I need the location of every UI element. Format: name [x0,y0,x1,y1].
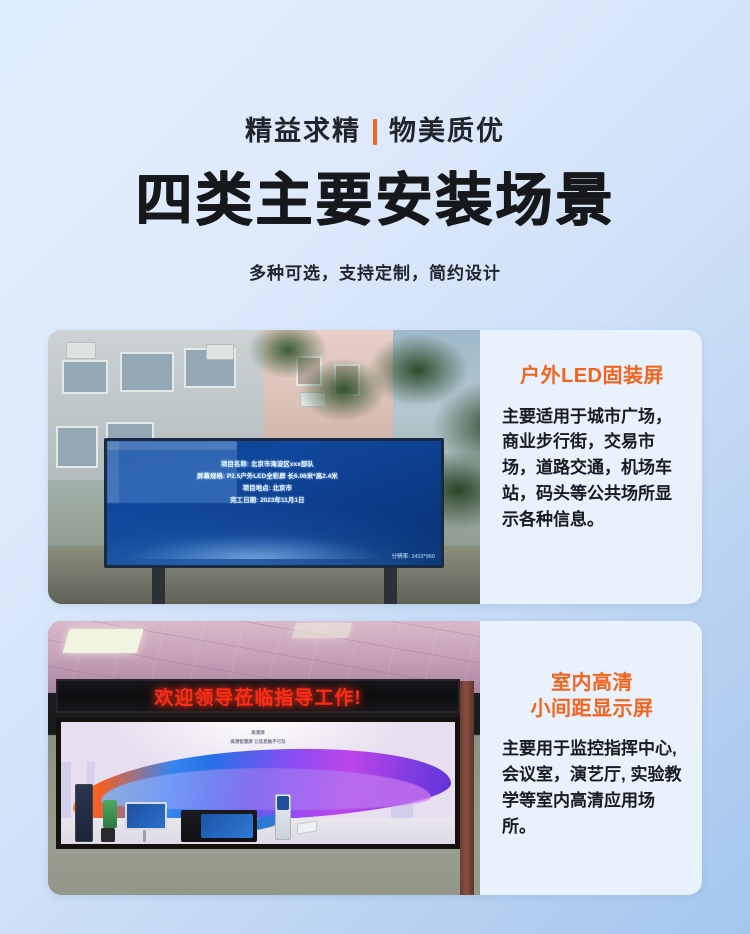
scene-card-indoor-fine-pitch[interactable]: 欢迎领导莅临指导工作! 高清屏 高清智慧屏 让信息触手可及 [48,621,702,895]
scene-card-list: 项目名称: 北京市海淀区xxx部队 屏幕规格: P2.5户外LED全彩屏 长6.… [0,330,750,895]
page-subtitle: 多种可选，支持定制，简约设计 [0,259,750,284]
device-panel-stand [143,830,146,842]
tagline-right: 物美质优 [389,118,505,145]
photo-billboard-pole [152,562,165,604]
page-header: 精益求精 物美质优 四类主要安装场景 多种可选，支持定制，简约设计 [0,0,750,284]
photo-window [120,352,174,392]
led-line-completion: 完工日期: 2023年11月1日 [192,495,342,507]
photo-window [56,426,98,468]
photo-air-conditioner [66,342,96,359]
device-interactive-panel [125,802,167,830]
led-screen-watermark: 分辨率: 2432*960 [392,552,435,560]
device-conference-display [201,814,253,838]
device-vertical-kiosk [75,784,93,842]
photo-window [62,360,108,394]
card-text-pane: 室内高清 小间距显示屏 主要用于监控指挥中心,会议室，演艺厅, 实验教学等室内高… [480,621,702,895]
led-line-screen-spec: 屏幕规格: P2.5户外LED全彩屏 长6.08米*高2.4米 [192,471,342,483]
screen-caption-1: 高清屏 [230,728,285,737]
screen-caption-2: 高清智慧屏 让信息触手可及 [230,737,285,746]
card-title: 户外LED固装屏 [520,364,664,390]
screen-caption-group: 高清屏 高清智慧屏 让信息触手可及 [230,728,285,747]
photo-led-screen: 项目名称: 北京市海淀区xxx部队 屏幕规格: P2.5户外LED全彩屏 长6.… [104,438,444,568]
photo-ceiling-light [63,629,144,653]
led-screen-text: 项目名称: 北京市海淀区xxx部队 屏幕规格: P2.5户外LED全彩屏 长6.… [192,459,342,507]
led-line-project-name: 项目名称: 北京市海淀区xxx部队 [192,459,342,471]
device-kiosk-screen [277,796,289,810]
photo-ceiling-light [292,623,352,638]
photo-door-frame [460,681,474,895]
device-stand [101,828,115,842]
page-title: 四类主要安装场景 [0,172,750,229]
led-banner-text: 欢迎领导莅临指导工作! [154,683,361,710]
device-small-signage [103,800,117,828]
outdoor-led-billboard-photo: 项目名称: 北京市海淀区xxx部队 屏幕规格: P2.5户外LED全彩屏 长6.… [48,330,480,604]
photo-fine-pitch-screen: 高清屏 高清智慧屏 让信息触手可及 [56,717,460,849]
tagline-left: 精益求精 [245,118,361,145]
card-text-pane: 户外LED固装屏 主要适用于城市广场，商业步行街，交易市场，道路交通，机场车站，… [480,330,702,604]
vertical-bar-icon [373,119,377,145]
indoor-fine-pitch-photo: 欢迎领导莅临指导工作! 高清屏 高清智慧屏 让信息触手可及 [48,621,480,895]
scene-card-outdoor-led[interactable]: 项目名称: 北京市海淀区xxx部队 屏幕规格: P2.5户外LED全彩屏 长6.… [48,330,702,604]
tagline: 精益求精 物美质优 [0,118,750,145]
card-body: 主要适用于城市广场，商业步行街，交易市场，道路交通，机场车站，码头等公共场所显示… [502,404,682,533]
led-line-location: 项目地点: 北京市 [192,483,342,495]
card-body: 主要用于监控指挥中心,会议室，演艺厅, 实验教学等室内高清应用场所。 [502,736,682,839]
card-title: 室内高清 小间距显示屏 [531,671,654,722]
photo-billboard-pole [384,562,397,604]
photo-led-banner: 欢迎领导莅临指导工作! [56,679,460,713]
